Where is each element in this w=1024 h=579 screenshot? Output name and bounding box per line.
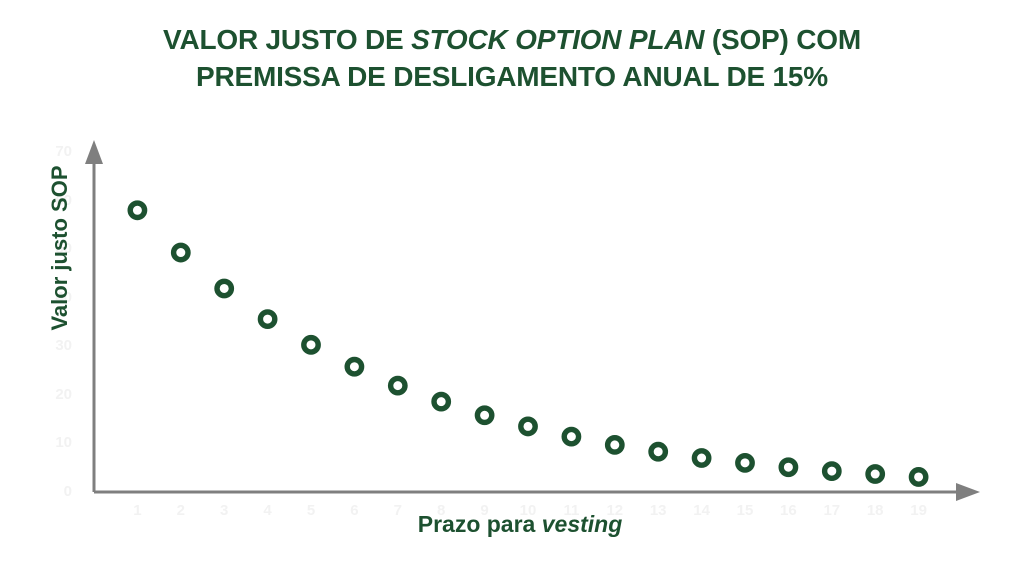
x-tick-label: 5 bbox=[299, 502, 323, 519]
data-point bbox=[174, 245, 188, 259]
data-point bbox=[694, 451, 708, 465]
data-point bbox=[911, 470, 925, 484]
y-axis-title: Valor justo SOP bbox=[47, 138, 73, 358]
y-axis-arrow-icon bbox=[85, 140, 103, 164]
data-point bbox=[130, 203, 144, 217]
data-point bbox=[434, 394, 448, 408]
data-point bbox=[651, 444, 665, 458]
x-tick-label: 3 bbox=[212, 502, 236, 519]
y-tick-label: 10 bbox=[28, 434, 72, 451]
data-point bbox=[477, 408, 491, 422]
x-tick-label: 17 bbox=[820, 502, 844, 519]
data-point bbox=[521, 419, 535, 433]
x-axis-title: Prazo para vesting bbox=[330, 511, 710, 538]
x-tick-label: 1 bbox=[125, 502, 149, 519]
x-tick-label: 2 bbox=[169, 502, 193, 519]
data-point bbox=[825, 464, 839, 478]
x-tick-label: 16 bbox=[776, 502, 800, 519]
data-point bbox=[781, 460, 795, 474]
data-point bbox=[217, 281, 231, 295]
chart-plot-area: 010203040506070 123456789101112131415161… bbox=[0, 0, 1024, 579]
data-point bbox=[391, 378, 405, 392]
y-tick-label: 0 bbox=[28, 483, 72, 500]
x-tick-label: 19 bbox=[907, 502, 931, 519]
data-point bbox=[608, 438, 622, 452]
x-axis-title-italic: vesting bbox=[542, 511, 623, 537]
x-tick-label: 4 bbox=[256, 502, 280, 519]
data-point bbox=[868, 467, 882, 481]
x-axis-title-prefix: Prazo para bbox=[418, 511, 542, 537]
data-point bbox=[564, 429, 578, 443]
data-point bbox=[304, 338, 318, 352]
scatter-chart-svg bbox=[0, 0, 1024, 579]
x-axis-arrow-icon bbox=[956, 483, 980, 501]
data-point bbox=[738, 456, 752, 470]
x-tick-label: 15 bbox=[733, 502, 757, 519]
y-tick-label: 20 bbox=[28, 386, 72, 403]
data-point bbox=[260, 312, 274, 326]
data-point-group bbox=[130, 203, 926, 484]
x-tick-label: 18 bbox=[863, 502, 887, 519]
data-point bbox=[347, 359, 361, 373]
